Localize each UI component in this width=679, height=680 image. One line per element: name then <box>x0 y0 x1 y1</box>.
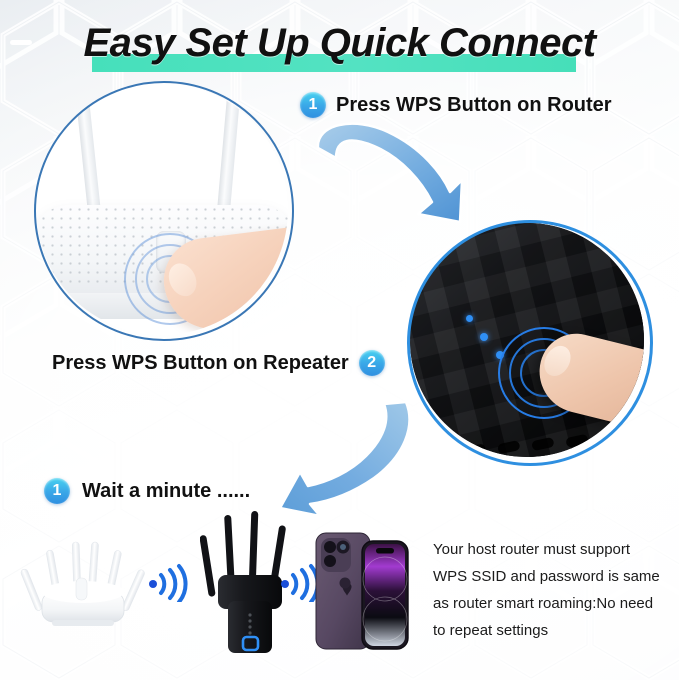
arrow-repeater-to-devices-icon <box>278 398 428 518</box>
note-line-2: WPS SSID and password is same <box>433 563 673 590</box>
note-line-4: to repeat settings <box>433 617 673 644</box>
fingernail <box>164 259 202 301</box>
note-line-3: as router smart roaming:No need <box>433 590 673 617</box>
step-badge-3: 1 <box>44 478 70 504</box>
page-title-block: Easy Set Up Quick Connect <box>0 18 679 74</box>
step-wait-a-minute: 1 Wait a minute ...... <box>44 478 250 504</box>
repeater-wps-photo <box>410 223 644 457</box>
infographic-page: Easy Set Up Quick Connect <box>0 0 679 680</box>
repeater-led-1 <box>466 315 473 322</box>
step-press-wps-router: 1 Press WPS Button on Router <box>300 92 612 118</box>
router-wps-photo <box>36 83 288 335</box>
repeater-led-2 <box>480 333 488 341</box>
step-badge-2: 2 <box>359 350 385 376</box>
step-label-2: Press WPS Button on Repeater <box>52 352 349 375</box>
smartphone-device <box>312 527 410 655</box>
page-title: Easy Set Up Quick Connect <box>0 18 679 68</box>
step-press-wps-repeater: Press WPS Button on Repeater 2 <box>52 350 385 376</box>
router-antenna-right <box>217 93 241 216</box>
arrow-router-to-repeater-icon <box>310 118 470 228</box>
step-badge-1: 1 <box>300 92 326 118</box>
step-label-3: Wait a minute ...... <box>82 480 250 503</box>
wifi-signal-icon-1 <box>145 562 193 602</box>
note-text: Your host router must support WPS SSID a… <box>433 536 673 644</box>
note-line-1: Your host router must support <box>433 536 673 563</box>
step-label-1: Press WPS Button on Router <box>336 94 612 117</box>
host-router-device <box>18 528 148 646</box>
router-antenna-left <box>76 97 101 216</box>
